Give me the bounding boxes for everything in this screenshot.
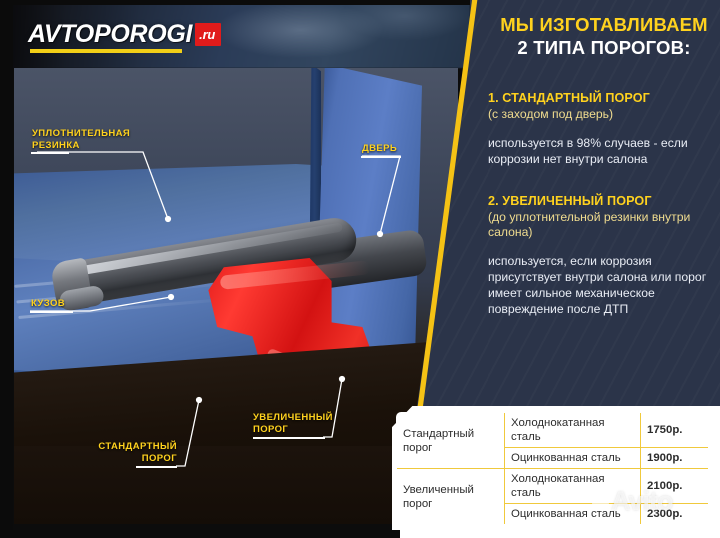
frame-edge-top: [0, 0, 470, 5]
price-table: Стандартный порог Холоднокатанная сталь …: [396, 412, 709, 525]
callout-rule-standard-2: [136, 466, 177, 468]
logo-underline-bar: [30, 49, 182, 53]
panel-heading-line2: 2 ТИПА ПОРОГОВ:: [488, 36, 710, 60]
price-row-name: Увеличенный порог: [397, 469, 505, 525]
frame-edge-left: [0, 0, 13, 538]
stage-floor-front: [14, 446, 458, 524]
callout-label-standard: СТАНДАРТНЫЙ ПОРОГ: [93, 441, 177, 465]
panel-heading-line1: МЫ ИЗГОТАВЛИВАЕМ: [488, 14, 710, 36]
price-row-steel: Оцинкованная сталь: [505, 448, 641, 469]
sill-type-block-standard: 1. СТАНДАРТНЫЙ ПОРОГ (с заходом под двер…: [488, 90, 710, 167]
price-table-container: Стандартный порог Холоднокатанная сталь …: [396, 412, 716, 530]
sill-type-subtitle-standard: (с заходом под дверь): [488, 107, 710, 122]
sill-type-title-enlarged: 2. УВЕЛИЧЕННЫЙ ПОРОГ: [488, 193, 710, 209]
callout-rule-door: [361, 156, 401, 158]
sill-type-subtitle-enlarged: (до уплотнительной резинки внутри салона…: [488, 210, 710, 240]
callout-rule-enlarged: [253, 437, 325, 439]
callout-label-enlarged: УВЕЛИЧЕННЫЙ ПОРОГ: [253, 412, 323, 436]
price-row-name: Стандартный порог: [397, 413, 505, 469]
sill-type-body-standard: используется в 98% случаев - если корроз…: [488, 135, 710, 167]
callout-label-seal: УПЛОТНИТЕЛЬНАЯ РЕЗИНКА: [32, 128, 130, 152]
logo-wordmark: AVTOPOROGI: [28, 20, 192, 49]
price-row-steel: Холоднокатанная сталь: [505, 413, 641, 448]
sill-type-body-enlarged: используется, если коррозия присутствует…: [488, 253, 710, 317]
price-row-steel: Холоднокатанная сталь: [505, 469, 641, 504]
table-row: Стандартный порог Холоднокатанная сталь …: [397, 413, 709, 448]
price-row-price: 1900р.: [641, 448, 709, 469]
callout-label-door: ДВЕРЬ: [362, 143, 397, 155]
callout-rule-body: [30, 311, 73, 313]
table-row: Увеличенный порог Холоднокатанная сталь …: [397, 469, 709, 504]
price-row-price: 1750р.: [641, 413, 709, 448]
sill-type-block-enlarged: 2. УВЕЛИЧЕННЫЙ ПОРОГ (до уплотнительной …: [488, 193, 710, 317]
logo-tld-badge: .ru: [195, 23, 221, 46]
sill-type-title-standard: 1. СТАНДАРТНЫЙ ПОРОГ: [488, 90, 710, 106]
price-row-price: 2100р.: [641, 469, 709, 504]
price-row-price: 2300р.: [641, 504, 709, 525]
logo[interactable]: AVTOPOROGI .ru: [28, 20, 221, 49]
poster-canvas: УПЛОТНИТЕЛЬНАЯ РЕЗИНКА КУЗОВ ДВЕРЬ СТАНД…: [0, 0, 720, 538]
frame-edge-bottom: [0, 530, 400, 538]
callout-label-body: КУЗОВ: [31, 298, 65, 310]
price-row-steel: Оцинкованная сталь: [505, 504, 641, 525]
callout-rule-seal: [31, 152, 69, 154]
